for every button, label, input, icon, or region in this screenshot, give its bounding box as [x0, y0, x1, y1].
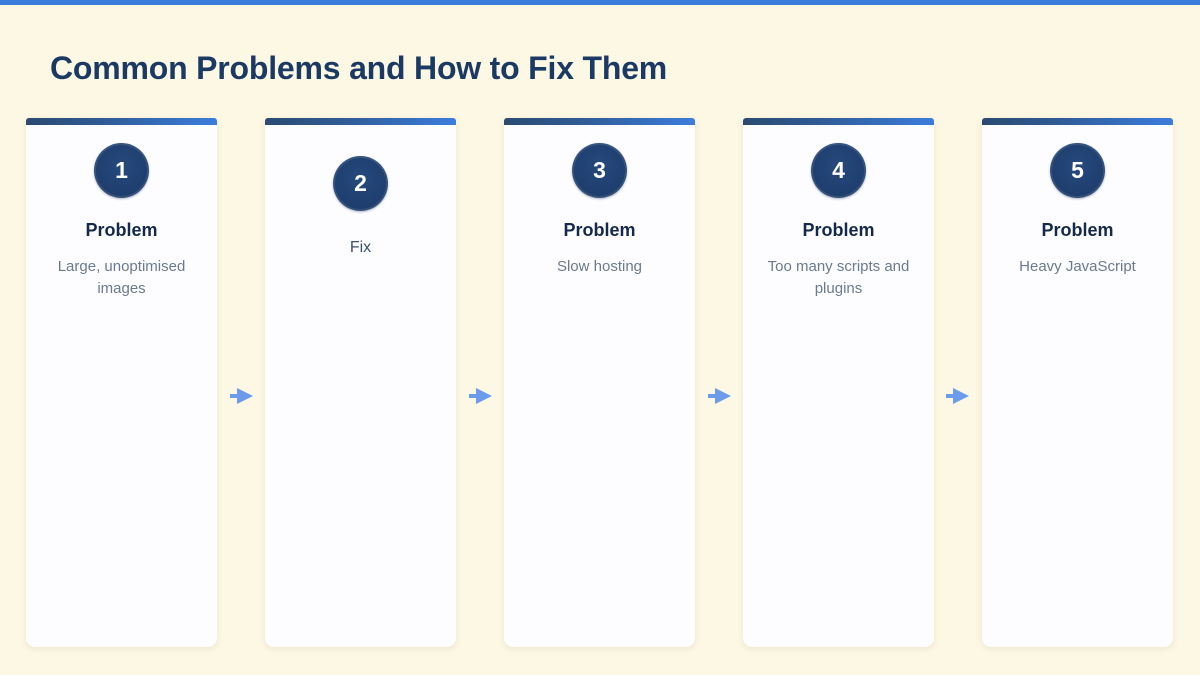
card-body-5: 5 Problem Heavy JavaScript	[982, 125, 1173, 278]
card-accent-bar-2	[265, 118, 456, 125]
card-accent-bar-1	[26, 118, 217, 125]
arrow-right-icon	[469, 385, 495, 407]
card-body-2: 2 Fix	[265, 125, 456, 260]
top-accent-strip	[0, 0, 1200, 5]
card-body-4: 4 Problem Too many scripts and plugins	[743, 125, 934, 300]
step-number-badge-3: 3	[572, 143, 627, 198]
card-text-4: Too many scripts and plugins	[757, 256, 920, 300]
step-number-badge-5: 5	[1050, 143, 1105, 198]
step-number-badge-1: 1	[94, 143, 149, 198]
card-heading-1: Problem	[85, 220, 157, 242]
card-heading-5: Problem	[1041, 220, 1113, 242]
card-accent-bar-4	[743, 118, 934, 125]
step-card-5[interactable]: 5 Problem Heavy JavaScript	[982, 118, 1173, 647]
step-card-4[interactable]: 4 Problem Too many scripts and plugins	[743, 118, 934, 647]
step-number-badge-4: 4	[811, 143, 866, 198]
arrow-right-icon	[708, 385, 734, 407]
card-accent-bar-5	[982, 118, 1173, 125]
card-heading-3: Problem	[563, 220, 635, 242]
arrow-right-icon	[946, 385, 972, 407]
card-text-2: Fix	[350, 236, 371, 260]
arrow-right-icon	[230, 385, 256, 407]
card-text-3: Slow hosting	[557, 256, 642, 278]
card-text-1: Large, unoptimised images	[40, 256, 203, 300]
card-heading-4: Problem	[802, 220, 874, 242]
step-card-1[interactable]: 1 Problem Large, unoptimised images	[26, 118, 217, 647]
process-flow-diagram: 1 Problem Large, unoptimised images 2 Fi…	[0, 118, 1200, 650]
page-title: Common Problems and How to Fix Them	[50, 50, 667, 87]
step-card-2[interactable]: 2 Fix	[265, 118, 456, 647]
card-accent-bar-3	[504, 118, 695, 125]
step-number-badge-2: 2	[333, 156, 388, 211]
card-text-5: Heavy JavaScript	[1019, 256, 1136, 278]
step-card-3[interactable]: 3 Problem Slow hosting	[504, 118, 695, 647]
card-body-1: 1 Problem Large, unoptimised images	[26, 125, 217, 300]
card-body-3: 3 Problem Slow hosting	[504, 125, 695, 278]
